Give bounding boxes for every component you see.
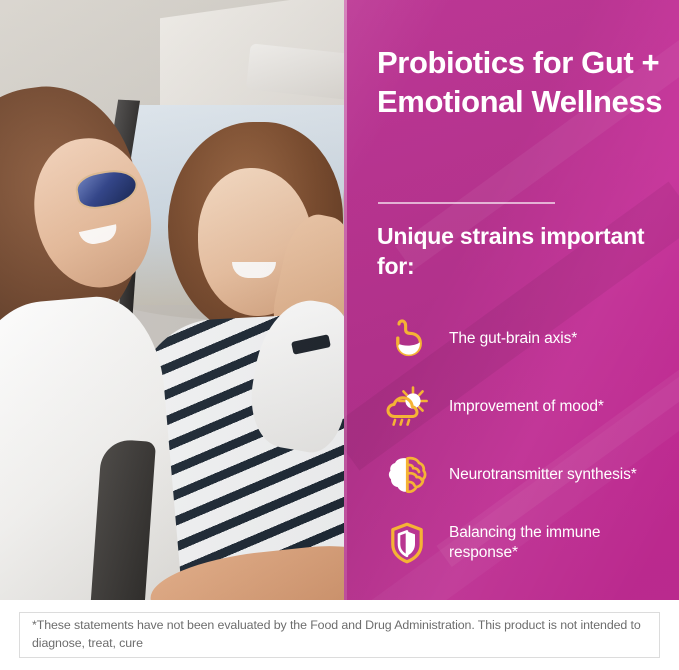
magenta-panel: Probiotics for Gut + Emotional Wellness …: [344, 0, 679, 600]
subheading: Unique strains important for:: [377, 222, 657, 282]
list-item-label: The gut-brain axis*: [437, 329, 577, 349]
panel-left-edge: [344, 0, 347, 600]
divider: [378, 202, 555, 204]
list-item-label: Improvement of mood*: [437, 397, 604, 417]
list-item-label: Neurotransmitter synthesis*: [437, 465, 637, 485]
disclaimer-text: *These statements have not been evaluate…: [20, 617, 659, 653]
lifestyle-photo: [0, 0, 346, 600]
list-item: Improvement of mood*: [377, 376, 669, 438]
list-item: The gut-brain axis*: [377, 308, 669, 370]
brain-icon: [377, 447, 437, 503]
infographic-canvas: Probiotics for Gut + Emotional Wellness …: [0, 0, 679, 670]
disclaimer-box: *These statements have not been evaluate…: [19, 612, 660, 658]
photo-grade-overlay: [0, 0, 346, 600]
sun-cloud-icon: [377, 379, 437, 435]
shield-icon: [377, 515, 437, 571]
list-item: Neurotransmitter synthesis*: [377, 444, 669, 506]
stomach-icon: [377, 311, 437, 367]
benefits-list: The gut-brain axis*: [377, 308, 669, 580]
panel-content: Probiotics for Gut + Emotional Wellness …: [377, 0, 667, 600]
list-item: Balancing the immune response*: [377, 512, 669, 574]
page-title: Probiotics for Gut + Emotional Wellness: [377, 44, 669, 122]
list-item-label: Balancing the immune response*: [437, 523, 669, 564]
hero-section: Probiotics for Gut + Emotional Wellness …: [0, 0, 679, 600]
